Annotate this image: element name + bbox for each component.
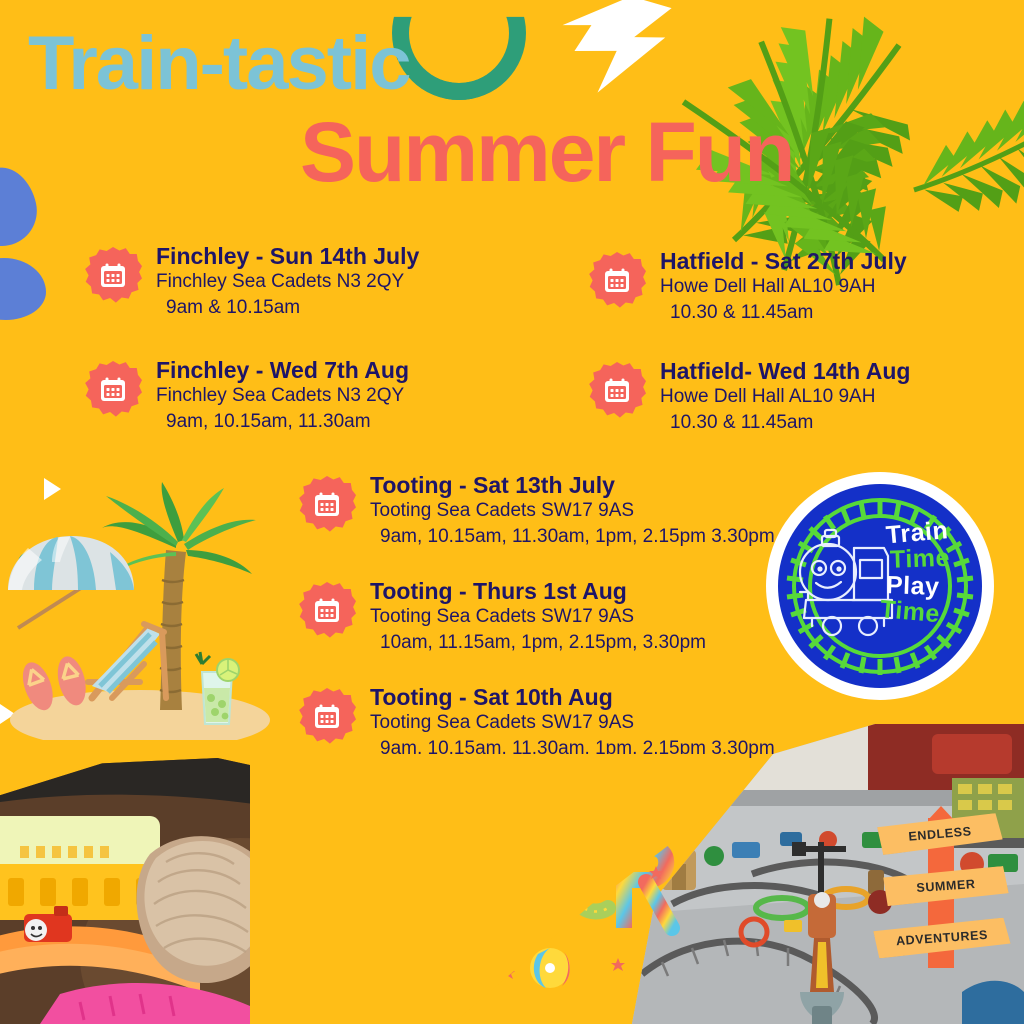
- poster-canvas: Train-tastic Summer Fun Finchley - S: [0, 0, 1024, 1024]
- calendar-icon: [84, 361, 142, 419]
- event-item[interactable]: Tooting - Sat 10th Aug Tooting Sea Cadet…: [298, 684, 775, 761]
- teal-dot-shape: [18, 552, 40, 574]
- event-times: 10.30 & 11.45am: [660, 410, 910, 436]
- green-arc-shape: [392, 0, 526, 100]
- poster-title-line1: Train-tastic: [28, 26, 409, 102]
- event-venue: Howe Dell Hall AL10 9AH: [660, 275, 907, 300]
- event-times: 9am, 10.15am, 11.30am, 1pm, 2.15pm 3.30p…: [370, 736, 775, 762]
- event-item[interactable]: Tooting - Sat 13th July Tooting Sea Cade…: [298, 472, 775, 549]
- calendar-icon: [588, 362, 646, 420]
- logo-inner-circle: Train Time Play Time: [778, 484, 982, 688]
- event-times: 10.30 & 11.45am: [660, 300, 907, 326]
- calendar-icon: [298, 582, 356, 640]
- event-title: Hatfield- Wed 14th Aug: [660, 358, 910, 385]
- calendar-icon: [298, 476, 356, 534]
- event-title: Tooting - Sat 10th Aug: [370, 684, 775, 711]
- calendar-icon: [588, 252, 646, 310]
- event-venue: Howe Dell Hall AL10 9AH: [660, 385, 910, 410]
- calendar-icon: [84, 247, 142, 305]
- event-title: Finchley - Sun 14th July: [156, 243, 419, 270]
- logo-wordmark: Train Time Play Time: [884, 520, 980, 625]
- event-item[interactable]: Finchley - Wed 7th Aug Finchley Sea Cade…: [84, 357, 409, 434]
- event-times: 9am, 10.15am, 11.30am, 1pm, 2.15pm 3.30p…: [370, 524, 775, 550]
- event-item[interactable]: Finchley - Sun 14th July Finchley Sea Ca…: [84, 243, 419, 320]
- logo-word-time: Time: [890, 545, 951, 573]
- event-times: 10am, 11.15am, 1pm, 2.15pm, 3.30pm: [370, 630, 706, 656]
- event-venue: Finchley Sea Cadets N3 2QY: [156, 270, 419, 295]
- event-venue: Tooting Sea Cadets SW17 9AS: [370, 711, 775, 736]
- event-item[interactable]: Hatfield- Wed 14th Aug Howe Dell Hall AL…: [588, 358, 910, 435]
- train-time-play-time-logo[interactable]: Train Time Play Time: [766, 472, 994, 700]
- white-triangle-icon: [0, 704, 15, 724]
- logo-word-time2: Time: [879, 596, 941, 627]
- white-triangle-icon: [44, 478, 61, 500]
- event-item[interactable]: Tooting - Thurs 1st Aug Tooting Sea Cade…: [298, 578, 706, 655]
- lightning-bolt-icon: [550, 0, 673, 101]
- photo-child-playing-with-train: [0, 758, 340, 1024]
- calendar-icon: [298, 688, 356, 746]
- poster-title-line2: Summer Fun: [300, 110, 793, 194]
- event-venue: Tooting Sea Cadets SW17 9AS: [370, 499, 775, 524]
- event-times: 9am & 10.15am: [156, 295, 419, 321]
- event-title: Finchley - Wed 7th Aug: [156, 357, 409, 384]
- blue-blob-shape: [0, 162, 43, 253]
- event-times: 9am, 10.15am, 11.30am: [156, 409, 409, 435]
- event-title: Tooting - Thurs 1st Aug: [370, 578, 706, 605]
- event-item[interactable]: Hatfield - Sat 27th July Howe Dell Hall …: [588, 248, 907, 325]
- beach-illustration: [0, 470, 290, 740]
- event-title: Tooting - Sat 13th July: [370, 472, 775, 499]
- blue-blob-shape: [0, 258, 46, 320]
- signpost: ENDLESS SUMMER ADVENTURES: [874, 812, 1014, 968]
- event-venue: Tooting Sea Cadets SW17 9AS: [370, 605, 706, 630]
- event-venue: Finchley Sea Cadets N3 2QY: [156, 384, 409, 409]
- event-title: Hatfield - Sat 27th July: [660, 248, 907, 275]
